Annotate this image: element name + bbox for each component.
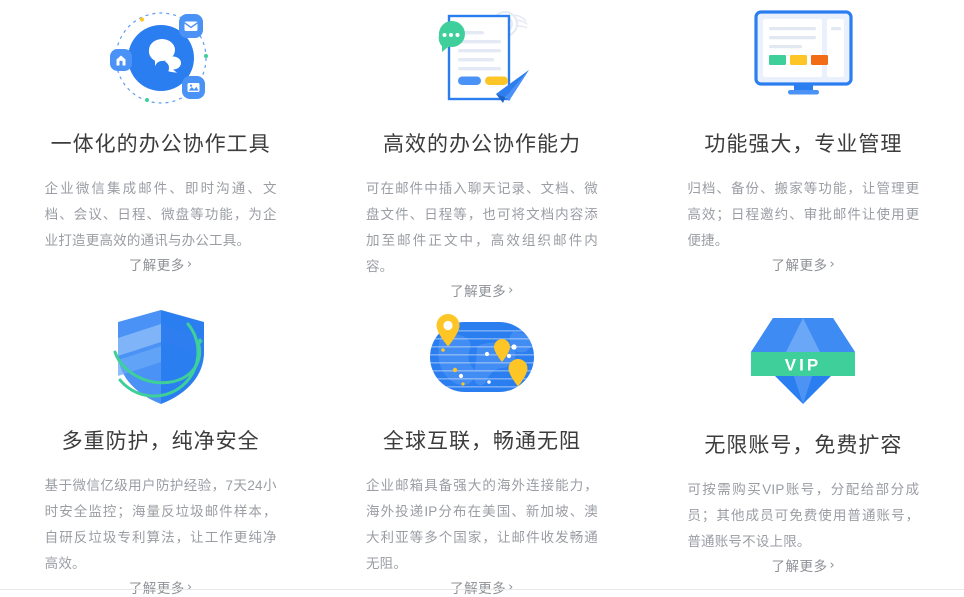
shield-security-icon [8,302,313,414]
globe-network-icon [329,302,634,414]
card-title: 多重防护，纯净安全 [62,428,260,455]
card-title: 全球互联，畅通无阻 [383,428,581,455]
features-section: 一体化的办公协作工具 企业微信集成邮件、即时沟通、文档、会议、日程、微盘等功能，… [0,0,964,595]
card-description: 基于微信亿级用户防护经验，7天24小时安全监控；海量反垃圾邮件样本，自研反垃圾专… [45,473,277,577]
feature-card-integrated-office-tool[interactable]: 一体化的办公协作工具 企业微信集成邮件、即时沟通、文档、会议、日程、微盘等功能，… [0,0,321,300]
feature-card-security-protection[interactable]: 多重防护，纯净安全 基于微信亿级用户防护经验，7天24小时安全监控；海量反垃圾邮… [0,300,321,587]
learn-more-link[interactable]: 了解更多 › [771,555,835,575]
learn-more-label: 了解更多 [771,254,827,274]
feature-card-professional-management[interactable]: 功能强大，专业管理 归档、备份、搬家等功能，让管理更高效；日程邀约、审批邮件让使… [643,0,964,300]
card-description: 企业微信集成邮件、即时沟通、文档、会议、日程、微盘等功能，为企业打造更高效的通讯… [45,176,277,254]
feature-card-unlimited-accounts[interactable]: VIP 无限账号，免费扩容 可按需购买VIP账号，分配给部分成员；其他成员可免费… [643,300,964,587]
feature-card-grid: 一体化的办公协作工具 企业微信集成邮件、即时沟通、文档、会议、日程、微盘等功能，… [0,0,964,587]
card-description: 归档、备份、搬家等功能，让管理更高效；日程邀约、审批邮件让使用更便捷。 [687,176,919,254]
feature-card-office-collaboration[interactable]: 高效的办公协作能力 可在邮件中插入聊天记录、文档、微盘文件、日程等，也可将文档内… [321,0,642,300]
card-description: 企业邮箱具备强大的海外连接能力，海外投递IP分布在美国、新加坡、澳大利亚等多个国… [366,473,598,577]
chevron-right-icon: › [508,581,514,594]
chevron-right-icon: › [829,258,835,271]
feature-card-global-connectivity[interactable]: 全球互联，畅通无阻 企业邮箱具备强大的海外连接能力，海外投递IP分布在美国、新加… [321,300,642,587]
card-title: 高效的办公协作能力 [383,131,581,158]
chevron-right-icon: › [829,559,835,572]
chevron-right-icon: › [187,258,193,271]
vip-diamond-icon: VIP [651,302,956,418]
card-title: 功能强大，专业管理 [704,131,902,158]
learn-more-label: 了解更多 [771,555,827,575]
learn-more-link[interactable]: 了解更多 › [450,280,514,300]
card-description: 可按需购买VIP账号，分配给部分成员；其他成员可免费使用普通账号，普通账号不设上… [687,477,919,555]
chevron-right-icon: › [508,284,514,297]
vip-badge-text: VIP [785,355,821,374]
learn-more-label: 了解更多 [450,280,506,300]
learn-more-link[interactable]: 了解更多 › [129,577,193,597]
card-description: 可在邮件中插入聊天记录、文档、微盘文件、日程等，也可将文档内容添加至邮件正文中，… [366,176,598,280]
learn-more-label: 了解更多 [129,577,185,597]
monitor-manage-icon [651,2,956,117]
learn-more-link[interactable]: 了解更多 › [771,254,835,274]
document-send-icon [329,2,634,117]
learn-more-link[interactable]: 了解更多 › [450,577,514,597]
bottom-divider [0,589,964,590]
chevron-right-icon: › [187,581,193,594]
learn-more-link[interactable]: 了解更多 › [129,254,193,274]
card-title: 一体化的办公协作工具 [51,131,271,158]
learn-more-label: 了解更多 [129,254,185,274]
learn-more-label: 了解更多 [450,577,506,597]
card-title: 无限账号，免费扩容 [704,432,902,459]
chat-network-icon [8,2,313,117]
